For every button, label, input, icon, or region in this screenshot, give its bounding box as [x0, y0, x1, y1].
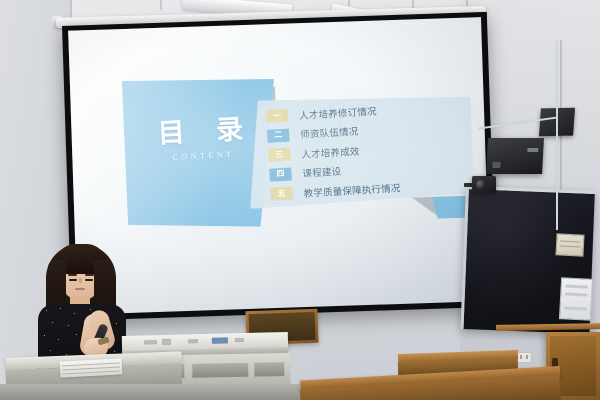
wall-control-panel[interactable]: [559, 277, 593, 321]
wall-junction-line-2: [560, 245, 580, 247]
toc-label-5: 教学质量保障执行情况: [303, 180, 401, 200]
toc-label-2: 师资队伍情况: [300, 124, 359, 141]
toc-number-3: 三: [268, 148, 291, 162]
toc-number-1: 一: [266, 109, 289, 123]
speaker-lower: [486, 138, 544, 174]
presenter-brow-left: [68, 274, 77, 276]
speaker-port: [492, 162, 500, 168]
podium-vga-port[interactable]: [212, 337, 228, 343]
toc-label-1: 人才培养修订情况: [299, 103, 377, 121]
toc-label-4: 课程建设: [302, 164, 342, 180]
toc-number-2: 二: [267, 128, 290, 142]
toc-label-3: 人才培养成效: [301, 143, 360, 160]
classroom-photo: 目 录 CONTENT 一 人才培养修订情况 二 师资队伍情况 三 人才培养成效: [0, 0, 600, 400]
presenter-mouth: [75, 288, 85, 290]
presenter-nose: [79, 278, 82, 283]
slide-title-chinese: 目 录: [139, 115, 262, 150]
document-camera: [472, 176, 496, 193]
speaker-brand-label: [527, 148, 538, 152]
toc-number-5: 五: [270, 187, 293, 201]
podium-port-1[interactable]: [144, 340, 157, 344]
podium-port-2[interactable]: [162, 339, 171, 345]
control-panel-slot-2: [565, 292, 587, 296]
presenter-eye-right: [85, 279, 93, 281]
camera-lens-icon: [476, 180, 485, 189]
control-panel-slot-3: [564, 306, 586, 310]
wall-conduit-vertical: [556, 40, 558, 230]
podium-papers: [60, 358, 123, 377]
podium-port-4[interactable]: [235, 338, 244, 342]
presenter-brow-right: [85, 274, 94, 276]
toc-number-4: 四: [269, 167, 292, 181]
slide-toc-list: 一 人才培养修订情况 二 师资队伍情况 三 人才培养成效 四 课程建设: [266, 95, 481, 204]
podium-drawer-3[interactable]: [254, 361, 284, 377]
control-panel-slot-1: [566, 284, 588, 288]
wall-junction-box: [555, 233, 584, 256]
light-stem-left: [160, 0, 162, 10]
slide-title-block: 目 录 CONTENT: [139, 115, 263, 163]
podium-drawer-2[interactable]: [192, 362, 248, 378]
paper-edge-3: [62, 370, 120, 374]
floor-foreground: [0, 384, 300, 400]
presenter-eye-left: [69, 279, 77, 281]
wall-junction-line-1: [560, 240, 580, 242]
podium-port-3[interactable]: [188, 339, 198, 343]
